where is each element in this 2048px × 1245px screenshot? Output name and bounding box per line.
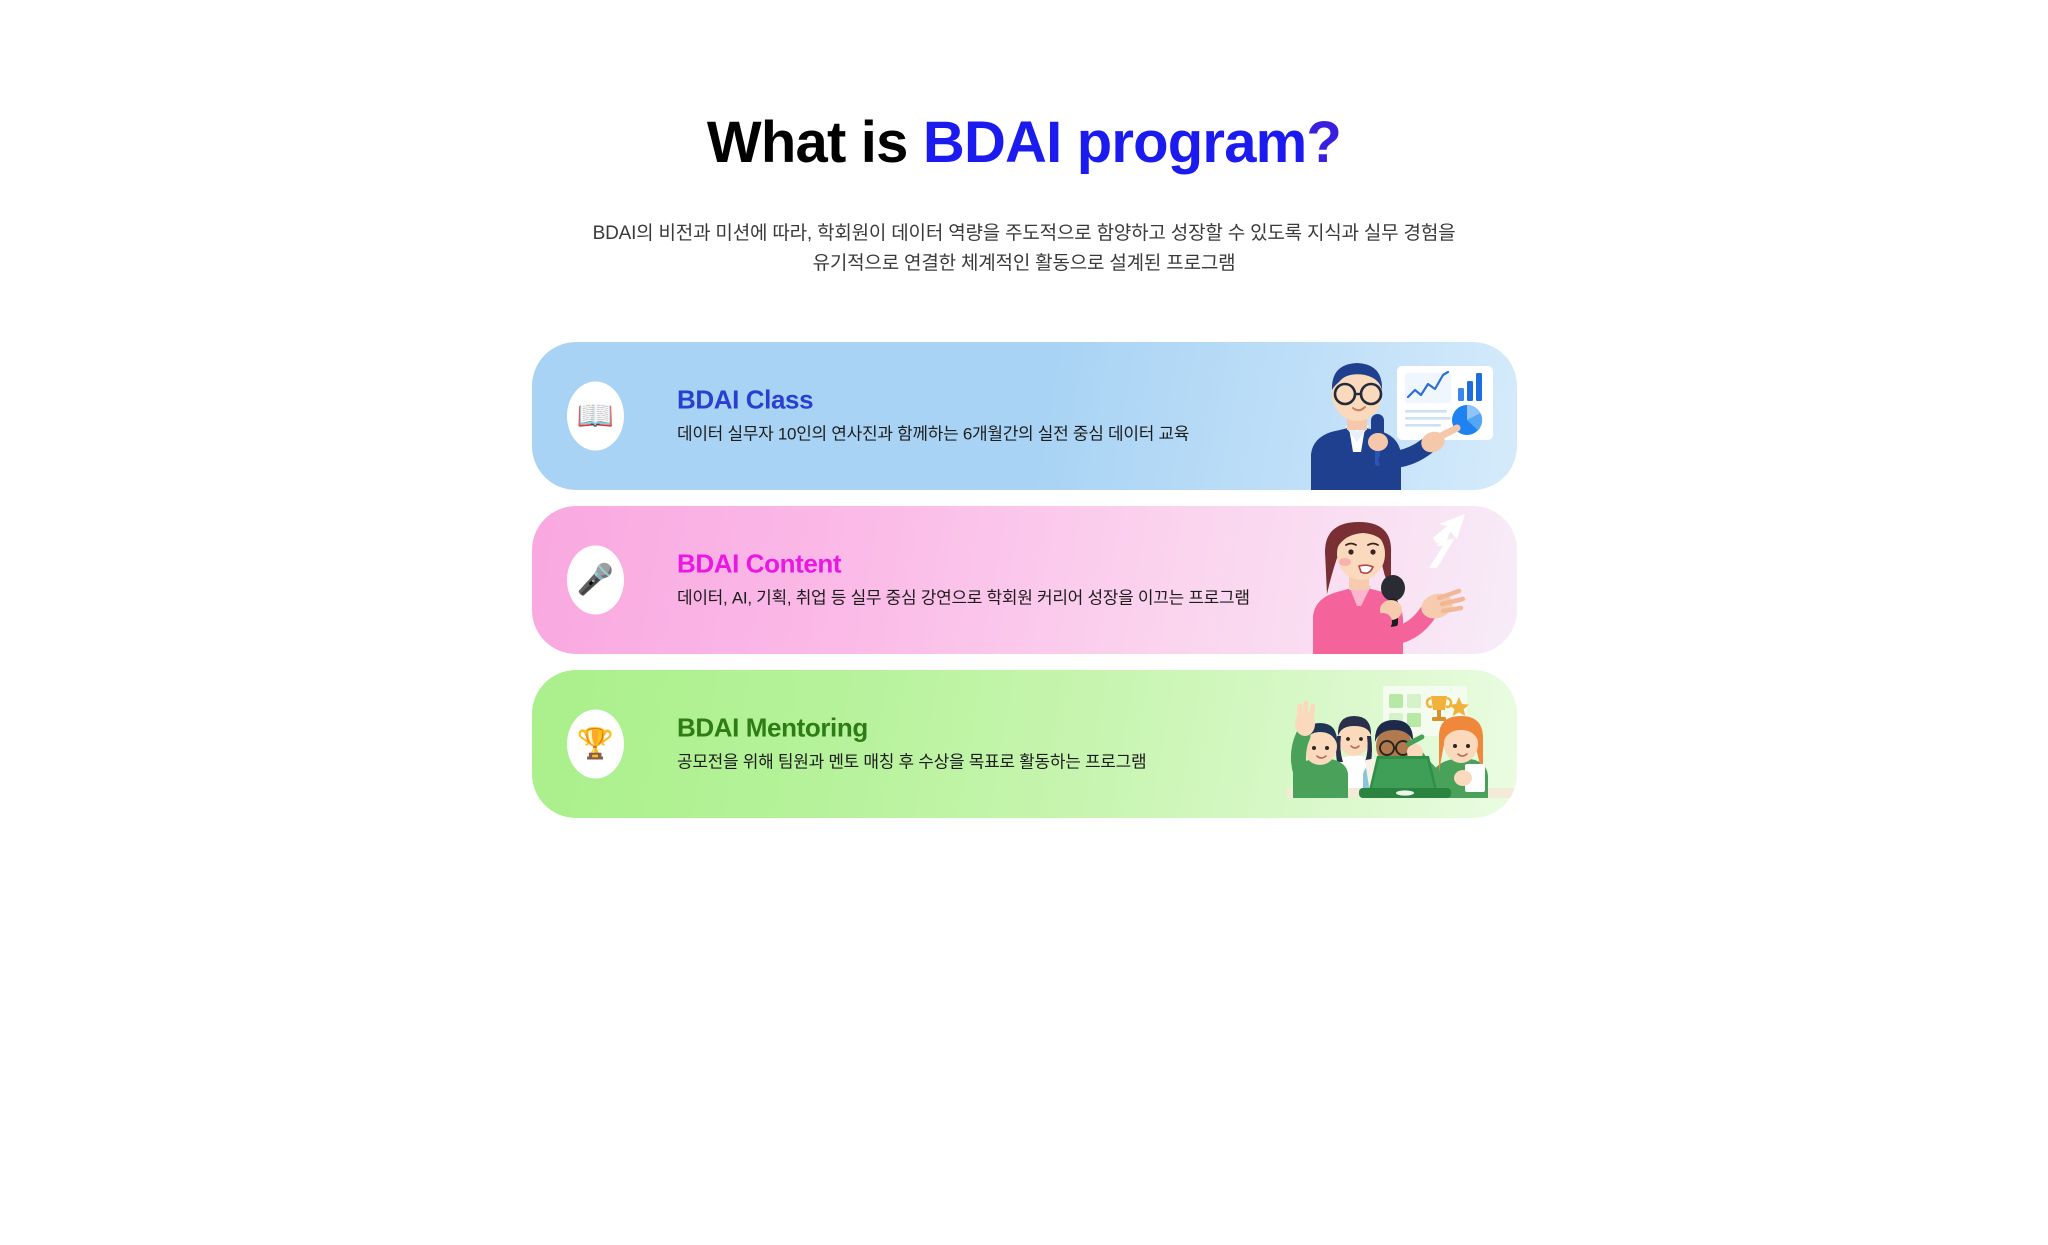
page-title-question-mark: ? [1306,110,1341,175]
program-card-description-bdai-mentoring: 공모전을 위해 팀원과 멘토 매칭 후 수상을 목표로 활동하는 프로그램 [677,751,1146,775]
program-card-title-bdai-class: BDAI Class [677,386,1189,416]
program-card-bdai-content[interactable]: 🎤 BDAI Content 데이터, AI, 기획, 취업 등 실무 중심 강… [532,506,1517,654]
open-book-icon: 📖 [567,382,624,451]
program-card-list: 📖 BDAI Class 데이터 실무자 10인의 연사진과 함께하는 6개월간… [532,342,1517,834]
page-subtitle: BDAI의 비전과 미션에 따라, 학회원이 데이터 역량을 주도적으로 함양하… [0,175,2048,281]
page-title-accent: BDAI program [923,110,1307,175]
trophy-icon: 🏆 [567,710,624,779]
team-collaborating-on-laptop-illustration [1287,670,1517,818]
page-root: What is BDAI program? BDAI의 비전과 미션에 따라, … [0,0,2048,1245]
program-card-text-bdai-class: BDAI Class 데이터 실무자 10인의 연사진과 함께하는 6개월간의 … [677,386,1189,447]
program-card-title-bdai-content: BDAI Content [677,550,1250,580]
program-card-text-bdai-mentoring: BDAI Mentoring 공모전을 위해 팀원과 멘토 매칭 후 수상을 목… [677,714,1146,775]
program-card-description-bdai-content: 데이터, AI, 기획, 취업 등 실무 중심 강연으로 학회원 커리어 성장을… [677,587,1250,611]
program-card-description-bdai-class: 데이터 실무자 10인의 연사진과 함께하는 6개월간의 실전 중심 데이터 교… [677,423,1189,447]
page-title: What is BDAI program? [0,112,2048,175]
program-card-text-bdai-content: BDAI Content 데이터, AI, 기획, 취업 등 실무 중심 강연으… [677,550,1250,611]
woman-speaking-with-growth-arrow-illustration [1287,506,1517,654]
page-subtitle-line-1: BDAI의 비전과 미션에 따라, 학회원이 데이터 역량을 주도적으로 함양하… [0,219,2048,250]
program-card-title-bdai-mentoring: BDAI Mentoring [677,714,1146,744]
page-title-plain: What is [707,110,923,175]
microphone-icon: 🎤 [567,546,624,615]
page-header: What is BDAI program? BDAI의 비전과 미션에 따라, … [0,112,2048,280]
speaker-presenting-charts-illustration [1287,342,1517,490]
page-subtitle-line-2: 유기적으로 연결한 체계적인 활동으로 설계된 프로그램 [0,249,2048,280]
program-card-bdai-mentoring[interactable]: 🏆 BDAI Mentoring 공모전을 위해 팀원과 멘토 매칭 후 수상을… [532,670,1517,818]
program-card-bdai-class[interactable]: 📖 BDAI Class 데이터 실무자 10인의 연사진과 함께하는 6개월간… [532,342,1517,490]
